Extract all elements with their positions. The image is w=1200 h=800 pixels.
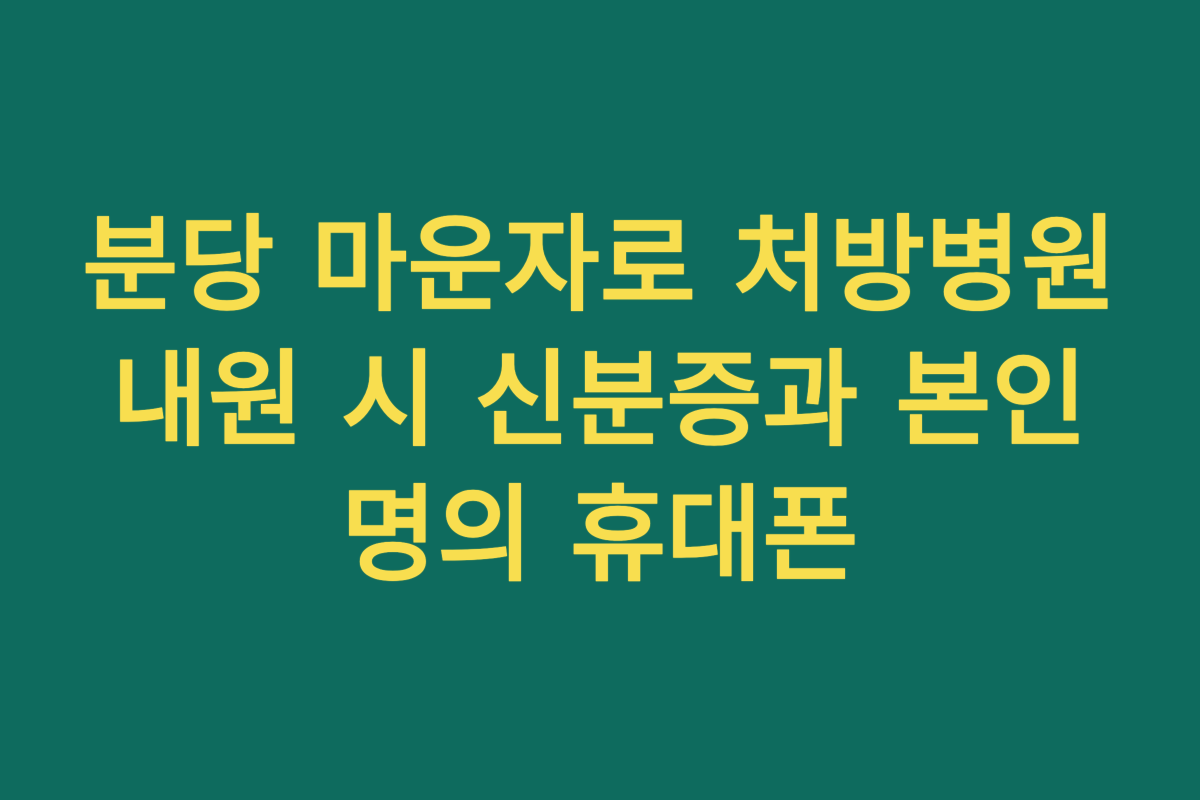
banner-canvas: 분당 마운자로 처방병원 내원 시 신분증과 본인 명의 휴대폰 <box>0 0 1200 800</box>
headline-line-3: 명의 휴대폰 <box>0 468 1200 603</box>
headline-text: 분당 마운자로 처방병원 내원 시 신분증과 본인 명의 휴대폰 <box>0 198 1200 603</box>
headline-line-2: 내원 시 신분증과 본인 <box>0 333 1200 468</box>
headline-line-1: 분당 마운자로 처방병원 <box>0 198 1200 333</box>
